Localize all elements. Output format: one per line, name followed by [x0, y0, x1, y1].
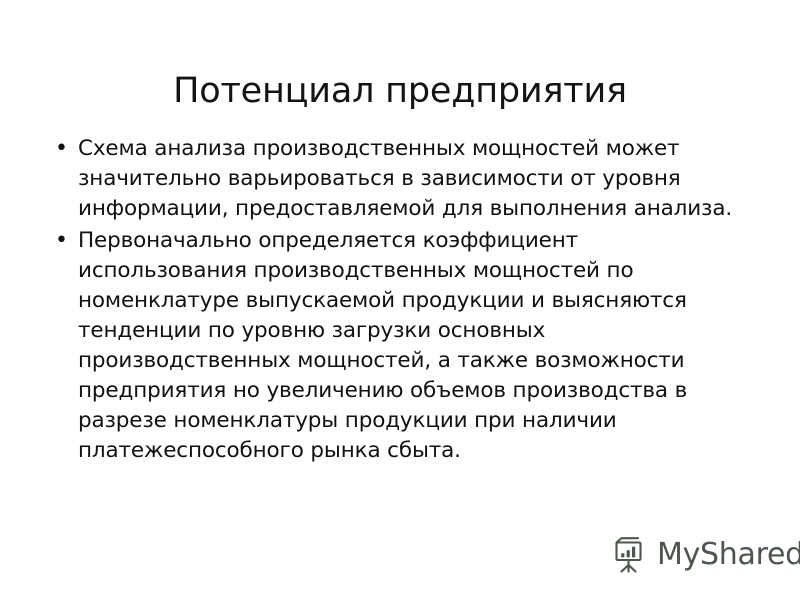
page-title: Потенциал предприятия: [0, 71, 800, 111]
list-item: • Схема анализа производственных мощност…: [52, 134, 752, 224]
presentation-chart-icon: [608, 534, 650, 576]
slide-body: • Схема анализа производственных мощност…: [52, 134, 752, 468]
bullet-point-icon: •: [52, 226, 78, 256]
bullet-point-icon: •: [52, 134, 78, 164]
slide-canvas: Потенциал предприятия • Схема анализа пр…: [0, 0, 800, 600]
myshared-brand-label: MyShared: [657, 540, 800, 570]
bullet-paragraph-1: Схема анализа производственных мощностей…: [78, 134, 752, 224]
list-item: • Первоначально определяется коэффициент…: [52, 226, 752, 466]
bullet-paragraph-2: Первоначально определяется коэффициент и…: [78, 226, 752, 466]
myshared-watermark: MyShared: [608, 534, 800, 576]
